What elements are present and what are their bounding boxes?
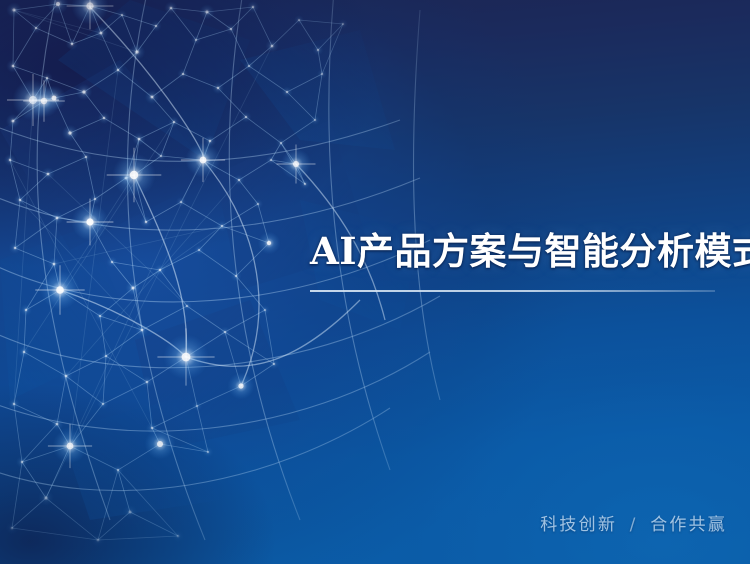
page-title: AI产品方案与智能分析模式: [310, 231, 720, 272]
title-divider: [310, 290, 715, 292]
presentation-title-slide: AI产品方案与智能分析模式 科技创新 / 合作共赢: [0, 0, 750, 564]
footer-tagline: 科技创新 / 合作共赢: [540, 510, 727, 535]
tagline-left: 科技创新: [540, 515, 617, 535]
tagline-separator: /: [625, 515, 643, 535]
tagline-right: 合作共赢: [650, 515, 727, 535]
title-block: AI产品方案与智能分析模式: [310, 231, 720, 292]
